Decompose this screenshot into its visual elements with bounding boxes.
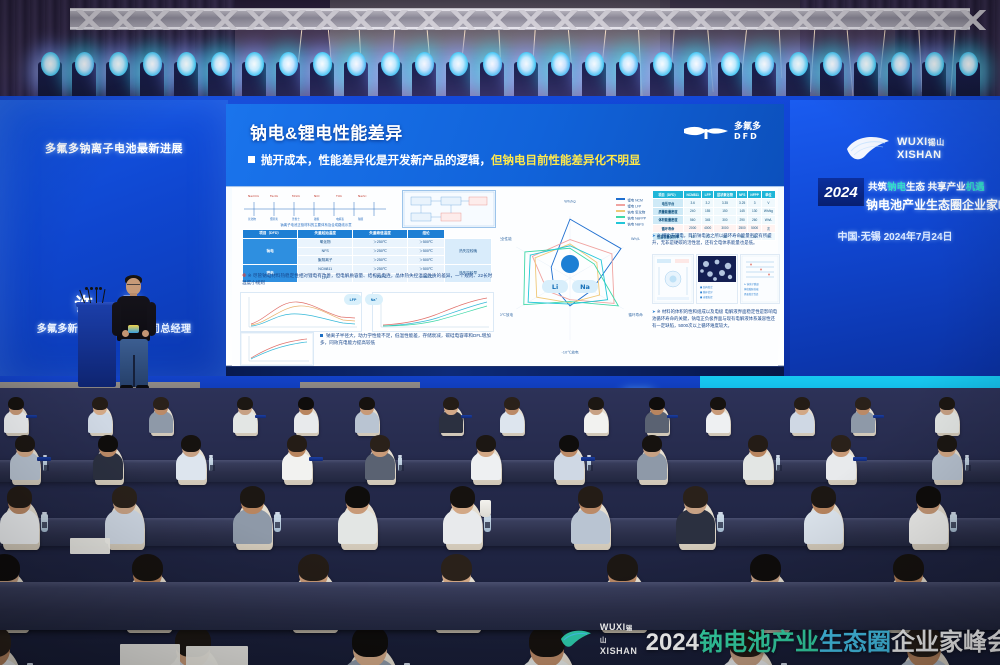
conference-photo: 多氟多钠离子电池最新进展 许 飞 多氟多新能源科技有限公司总经理 WUXI锡山 … <box>0 0 1000 665</box>
audience-person-hair <box>153 397 168 411</box>
audience-person-hair <box>92 397 107 411</box>
table-name-card <box>873 415 884 418</box>
table-top-edge-front <box>0 582 1000 588</box>
molecular-structure-diagram: Na₂CO₃Fe₂O₃MnO₂ NiOTiO₂Na₃V₂ 氧化物聚阴离普鲁士 硬… <box>240 191 390 221</box>
table-cell: 260 <box>748 216 761 224</box>
truss-brace <box>242 10 276 30</box>
svg-text:硬碳: 硬碳 <box>314 217 320 221</box>
dsc-chart-right <box>372 292 494 332</box>
table-row: 钠电氧化物＞250℃＞500℃热失控较晚 <box>243 238 492 247</box>
legend-label: 锂电 NCM <box>627 199 642 203</box>
audience-person-hair <box>916 486 941 508</box>
truss-brace <box>650 10 684 30</box>
tagline-hl2: 机遇 <box>966 182 985 193</box>
table-cell: 240 <box>684 207 702 215</box>
left-column-bullets: 钠离子半径大，动力学性能不足，低温性能差，存储衰减，碳硅电容率和DFL增加多，同… <box>320 332 496 347</box>
radar-axis-label: -20℃放电 <box>500 312 513 317</box>
audience-person-hair <box>240 486 265 508</box>
audience-person-hair <box>683 486 708 508</box>
table-cell: Wh/L <box>761 216 775 224</box>
wm-year: 2024 <box>646 629 699 656</box>
radar-axis-label: -10℃放电 <box>561 350 578 355</box>
table-name-card <box>37 457 51 461</box>
main-presentation-slide: 钠电&锂电性能差异 抛开成本，性能差异化是开发新产品的逻辑，但钠电目前性能差异化… <box>226 104 784 376</box>
truss-brace <box>106 10 140 30</box>
bullet-marker <box>248 156 255 163</box>
watermark-title: 2024钠电池产业生态圈企业家峰会 <box>646 622 1000 657</box>
table-cell: 电压平台 <box>653 199 684 207</box>
slide-subtitle: 抛开成本，性能差异化是开发新产品的逻辑，但钠电目前性能差异化不明显 <box>248 152 641 168</box>
tagline-mid: 生态 共享产业 <box>906 182 966 193</box>
bottle-cap <box>776 455 780 457</box>
radar-axis-label: Wh/L <box>631 237 640 241</box>
bottle-cap <box>209 455 213 457</box>
audience-person-hair <box>607 554 638 581</box>
table-header-cell: LFP <box>702 191 714 199</box>
truss-brace <box>922 10 956 30</box>
watermark-fish-icon <box>560 627 593 651</box>
audience-person-hair <box>352 625 388 657</box>
dsc-curve-charts: LFP Na⁺ <box>240 292 494 330</box>
audience-person-hair <box>298 397 313 411</box>
cell-schematic-icon <box>652 254 694 304</box>
svg-text:■ 容量发挥: ■ 容量发挥 <box>700 295 713 299</box>
table-cell: ＞250℃ <box>353 238 408 247</box>
table-name-card <box>667 415 678 418</box>
audience-person-hair <box>794 397 809 411</box>
table-header-cell: 项目（DFD） <box>653 191 684 199</box>
audience-person-hair <box>939 397 954 411</box>
svg-text:NiO: NiO <box>314 194 320 198</box>
audience-person-hair <box>588 397 603 411</box>
audience-person-hair <box>112 486 137 508</box>
truss-brace <box>412 10 446 30</box>
truss-brace <box>956 10 990 30</box>
svg-text:Fe₂O₃: Fe₂O₃ <box>270 194 279 198</box>
table-cell: 3.35 <box>713 199 736 207</box>
slide-subtitle-highlight: 但钠电目前性能差异化不明显 <box>491 155 641 167</box>
radar-chart: Wh/kgWh/L循环寿命-10℃放电-20℃放电安全性能LiNa 锂电 NCM… <box>500 190 648 362</box>
tagline-hl1: 钠电 <box>887 182 906 193</box>
left-screen-title: 多氟多钠离子电池最新进展 <box>0 140 228 156</box>
table-name-card <box>255 415 266 418</box>
table-cell: 氧化物 <box>298 238 353 247</box>
tagline-pre: 共筑 <box>868 182 887 193</box>
truss-brace <box>888 10 922 30</box>
table-cell: ＞250℃ <box>353 256 408 265</box>
xishan-en: XISHAN <box>897 149 945 162</box>
audience-person-hair <box>831 435 851 452</box>
event-date-location: 中国·无锡 2024年7月24日 <box>790 228 1000 243</box>
radar-center-pill-label: Na <box>580 283 590 291</box>
svg-text:电解液: 电解液 <box>336 217 344 221</box>
audience-person-hair <box>287 435 307 452</box>
legend-label: 钠电 氧化物 <box>627 211 645 215</box>
audience-person-hair <box>476 435 496 452</box>
left-note-text: ※ 尽管钠电材料热稳定性相对锂电有改善，但电解质容量、结构的电连，晶体热失控温度… <box>242 273 492 285</box>
notepaper <box>70 538 110 554</box>
xishan-fish-icon <box>845 132 893 166</box>
svg-text:DFD: DFD <box>734 132 759 141</box>
wuxi-cn: 锡山 <box>928 138 945 147</box>
radar-axis-label: 循环寿命 <box>628 312 643 317</box>
svg-text:体积膨胀收缩: 体积膨胀收缩 <box>744 287 759 291</box>
audience-person-hair <box>578 486 603 508</box>
audience-person-hair <box>642 435 662 452</box>
audience-person-hair <box>893 554 924 581</box>
table-cell: 155 <box>702 207 714 215</box>
table-name-card <box>309 457 323 461</box>
paper-cup <box>480 500 491 517</box>
water-bottle <box>776 457 781 471</box>
podium <box>78 305 116 387</box>
legend-swatch <box>616 198 625 200</box>
table-cell: 体积能量密度 <box>653 216 684 224</box>
table-cell: 290 <box>736 216 748 224</box>
truss-brace <box>820 10 854 30</box>
table-cell: ＞250℃ <box>353 247 408 256</box>
table-cell: Wh/kg <box>761 207 775 215</box>
legend-label: 钠电 NaFPP <box>627 217 646 221</box>
bottle-cap <box>951 512 955 515</box>
conference-table <box>0 520 1000 546</box>
table-header-cell: 单位 <box>761 191 775 199</box>
truss-brace <box>72 10 106 30</box>
slide-bottom-bar <box>226 367 784 376</box>
audience-person-hair <box>345 486 370 508</box>
notepaper <box>186 646 248 665</box>
water-bottle <box>965 457 970 471</box>
audience-person-hair <box>504 397 519 411</box>
watermark-wuxi-wordmark: WUXI锡山 XISHAN <box>600 622 639 656</box>
speaker-clicker-device <box>128 325 139 333</box>
bullet-square <box>320 334 323 337</box>
table-header-cell: 层状氧化物 <box>713 191 736 199</box>
speaker-arm-left <box>112 302 121 336</box>
radar-center-icon <box>561 255 579 273</box>
truss-brace <box>310 10 344 30</box>
audience-person-hair <box>441 554 472 581</box>
right-note-1: ➤ ※ 相比于锂电，目前钠电池之所以循环寿命能量密度有所提升，无非是硬碳的活性混… <box>652 232 776 246</box>
dfd-logo-icon: 多氟多 DFD <box>680 116 766 146</box>
audience-person-hair <box>748 435 768 452</box>
radar-center-pill-label: Li <box>552 283 558 291</box>
truss-brace <box>616 10 650 30</box>
truss-brace <box>344 10 378 30</box>
legend-swatch <box>616 210 625 212</box>
truss-brace <box>684 10 718 30</box>
water-bottle <box>274 514 280 532</box>
event-watermark: WUXI锡山 XISHAN 2024钠电池产业生态圈企业家峰会 <box>560 622 1000 656</box>
pill-na: Na⁺ <box>365 294 383 305</box>
table-header-cell: 失重峰值温度 <box>353 230 408 239</box>
svg-text:隔膜: 隔膜 <box>358 217 364 221</box>
audience-person-hair <box>443 397 458 411</box>
speaker-hand-right <box>142 330 149 337</box>
wm-wuxi-en: WUXI <box>600 622 626 632</box>
svg-text:Na₂CO₃: Na₂CO₃ <box>248 194 260 198</box>
svg-text:界面稳定性差: 界面稳定性差 <box>744 292 759 296</box>
event-name: 钠电池产业生态圈企业家峰会 <box>866 196 1000 213</box>
svg-text:MnO₂: MnO₂ <box>292 194 301 198</box>
left-column-note: ※ ※ 尽管钠电材料热稳定性相对锂电有改善，但电解质容量、结构的电连，晶体热失控… <box>242 272 494 286</box>
electrolyte-pill-labels: LFP Na⁺ <box>344 294 383 305</box>
wm-xishan-en: XISHAN <box>600 646 639 656</box>
table-name-card <box>853 457 867 461</box>
water-bottle <box>484 514 490 532</box>
truss-brace <box>786 10 820 30</box>
event-year-badge: 2024 <box>818 178 864 206</box>
audience-person-hair <box>750 554 781 581</box>
table-cell: ＞500℃ <box>407 256 444 265</box>
bottle-cap <box>42 512 46 515</box>
truss-brace <box>480 10 514 30</box>
slide-subtitle-plain: 抛开成本，性能差异化是开发新产品的逻辑， <box>261 155 491 167</box>
right-note-1-text: ※ 相比于锂电，目前钠电池之所以循环寿命能量密度有所提升，无非是硬碳的活性混，还… <box>652 233 772 245</box>
audience-person-hair <box>370 435 390 452</box>
water-bottle <box>717 514 723 532</box>
water-bottle <box>209 457 214 471</box>
wuxi-en: WUXI <box>897 136 928 148</box>
table-name-card <box>461 415 472 418</box>
table-cell: ＞500℃ <box>407 238 444 247</box>
audience-person-hair <box>8 397 23 411</box>
notepaper <box>120 644 180 665</box>
table-name-card <box>581 457 595 461</box>
truss-brace <box>752 10 786 30</box>
right-column-diagrams: ■ 结构稳定■ 循环优异■ 容量发挥 ➤ 钠离子脱嵌体积膨胀收缩界面稳定性差 <box>652 254 778 302</box>
water-bottle <box>950 514 956 532</box>
table-header-cell: NFPP <box>748 191 761 199</box>
table-cell: 145 <box>736 207 748 215</box>
table-header-cell: 项目（DFD） <box>243 230 298 239</box>
cycle-life-chart <box>240 332 314 366</box>
audience-person-hair <box>937 435 957 452</box>
layer-structure-icon: ➤ 钠离子脱嵌体积膨胀收缩界面稳定性差 <box>740 254 780 304</box>
svg-text:Na₃V₂: Na₃V₂ <box>358 194 367 198</box>
table-cell: 聚阴离子 <box>298 256 353 265</box>
truss-brace <box>276 10 310 30</box>
event-tagline: 共筑钠电生态 共享产业机遇 <box>868 179 985 193</box>
radar-chart-legend: 锂电 NCM锂电 LFP钠电 氧化物钠电 NaFPP钠电 NaFS <box>616 198 646 228</box>
audience-person-hair <box>559 435 579 452</box>
table-header-cell: 失重起始温度 <box>298 230 353 239</box>
truss-brace <box>174 10 208 30</box>
audience-person-hair <box>649 397 664 411</box>
table-cell: 345 <box>702 216 714 224</box>
legend-swatch <box>616 222 625 224</box>
svg-text:多氟多: 多氟多 <box>734 120 761 132</box>
table-cell: 300 <box>713 216 736 224</box>
table-name-card <box>26 415 37 418</box>
table-cell: 质量能量密度 <box>653 207 684 215</box>
radar-legend-item: 钠电 NaFS <box>616 222 646 228</box>
legend-label: 锂电 LFP <box>627 205 641 209</box>
table-cell: NFS <box>298 247 353 256</box>
water-bottle <box>41 514 47 532</box>
radar-axis-label: 安全性能 <box>500 236 512 241</box>
right-note-2-text: ※ 材料的体积的性和组成以及电极 电解液界面稳定性是影响电池循环寿命的关键，钠电… <box>652 309 777 328</box>
audience-person-hair <box>181 435 201 452</box>
audience-person-hair <box>7 486 32 508</box>
legend-label: 钠电 NaFS <box>627 223 643 227</box>
audience-person-hair <box>98 435 118 452</box>
svg-text:➤ 钠离子脱嵌: ➤ 钠离子脱嵌 <box>744 282 759 286</box>
truss-brace <box>718 10 752 30</box>
table-cell: ＞500℃ <box>407 247 444 256</box>
wm-part-green: 钠电池产业 <box>699 629 819 656</box>
table-cell: 热失控较晚 <box>445 238 492 264</box>
truss-brace <box>582 10 616 30</box>
truss-brace <box>446 10 480 30</box>
audience-person-hair <box>811 486 836 508</box>
svg-text:TiO₂: TiO₂ <box>335 194 343 198</box>
audience-person-hair <box>0 554 20 581</box>
table-header-cell: 结论 <box>407 230 444 239</box>
audience-person-hair <box>855 397 870 411</box>
speaker-leg-gap <box>133 355 135 387</box>
wuxi-xishan-wordmark: WUXI锡山 XISHAN <box>897 136 945 162</box>
table-cell: 3.2 <box>702 199 714 207</box>
microphone-head <box>90 287 93 290</box>
bottle-cap <box>718 512 722 515</box>
wm-part-white: 企业家峰会 <box>891 629 1000 656</box>
table-cell: V <box>761 199 775 207</box>
svg-text:■ 结构稳定: ■ 结构稳定 <box>700 285 713 289</box>
wm-part-cyan: 生态圈 <box>819 629 891 656</box>
audience-person-hair <box>359 397 374 411</box>
table-row: 质量能量密度240155150145130Wh/kg <box>653 207 776 215</box>
truss-brace <box>378 10 412 30</box>
radar-axis-label: Wh/kg <box>564 199 575 203</box>
audience-person-hair <box>237 397 252 411</box>
truss-brace <box>548 10 582 30</box>
molecular-diagram-caption: 钠离子电池正极材料的主要体系及合成路线示意 <box>242 222 390 227</box>
speaker-glasses <box>127 284 140 288</box>
slide-body: Na₂CO₃Fe₂O₃MnO₂ NiOTiO₂Na₃V₂ 氧化物聚阴离普鲁士 硬… <box>232 188 778 366</box>
table-header-cell: NFS <box>736 191 748 199</box>
svg-text:氧化物: 氧化物 <box>248 217 256 221</box>
table-cell: 3.6 <box>684 199 702 207</box>
right-note-2: ➤ ※ 材料的体积的性和组成以及电极 电解液界面稳定性是影响电池循环寿命的关键，… <box>652 308 778 329</box>
bottle-cap <box>275 512 279 515</box>
table-cell: 130 <box>748 207 761 215</box>
radar-series-polygon <box>535 244 599 303</box>
table-cell: 560 <box>684 216 702 224</box>
table-group-label: 钠电 <box>243 238 298 264</box>
audience-person-hair <box>132 554 163 581</box>
truss-brace <box>208 10 242 30</box>
table-row: 体积能量密度560345300290260Wh/L <box>653 216 776 224</box>
microphone-head <box>95 287 98 290</box>
audience-person-hair <box>710 397 725 411</box>
audience-person-hair <box>450 486 475 508</box>
truss-brace <box>514 10 548 30</box>
pill-lfp: LFP <box>344 294 362 305</box>
left-bullets-text: 钠离子半径大，动力学性能不足，低温性能差，存储衰减，碳硅电容率和DFL增加多，同… <box>320 333 491 345</box>
svg-text:聚阴离: 聚阴离 <box>270 217 278 221</box>
truss-brace <box>140 10 174 30</box>
audience-person-hair <box>298 554 329 581</box>
process-flow-diagram <box>402 190 496 228</box>
table-cell: 3 <box>748 199 761 207</box>
table-top-edge <box>0 518 1000 522</box>
svg-text:普鲁士: 普鲁士 <box>292 217 300 221</box>
audience-person-hair <box>15 435 35 452</box>
legend-swatch <box>616 204 625 206</box>
sem-image-icon: ■ 结构稳定■ 循环优异■ 容量发挥 <box>696 254 738 304</box>
svg-text:■ 循环优异: ■ 循环优异 <box>700 290 713 294</box>
table-header-cell: NCM811 <box>684 191 702 199</box>
bottle-cap <box>965 455 969 457</box>
microphone-stem <box>96 289 97 303</box>
table-cell: 150 <box>713 207 736 215</box>
table-cell: 3.25 <box>736 199 748 207</box>
bottle-cap <box>398 455 402 457</box>
slide-title: 钠电&锂电性能差异 <box>250 119 403 144</box>
legend-swatch <box>616 216 625 218</box>
table-row: 电压平台3.63.23.353.253V <box>653 199 776 207</box>
truss-brace <box>854 10 888 30</box>
water-bottle <box>398 457 403 471</box>
